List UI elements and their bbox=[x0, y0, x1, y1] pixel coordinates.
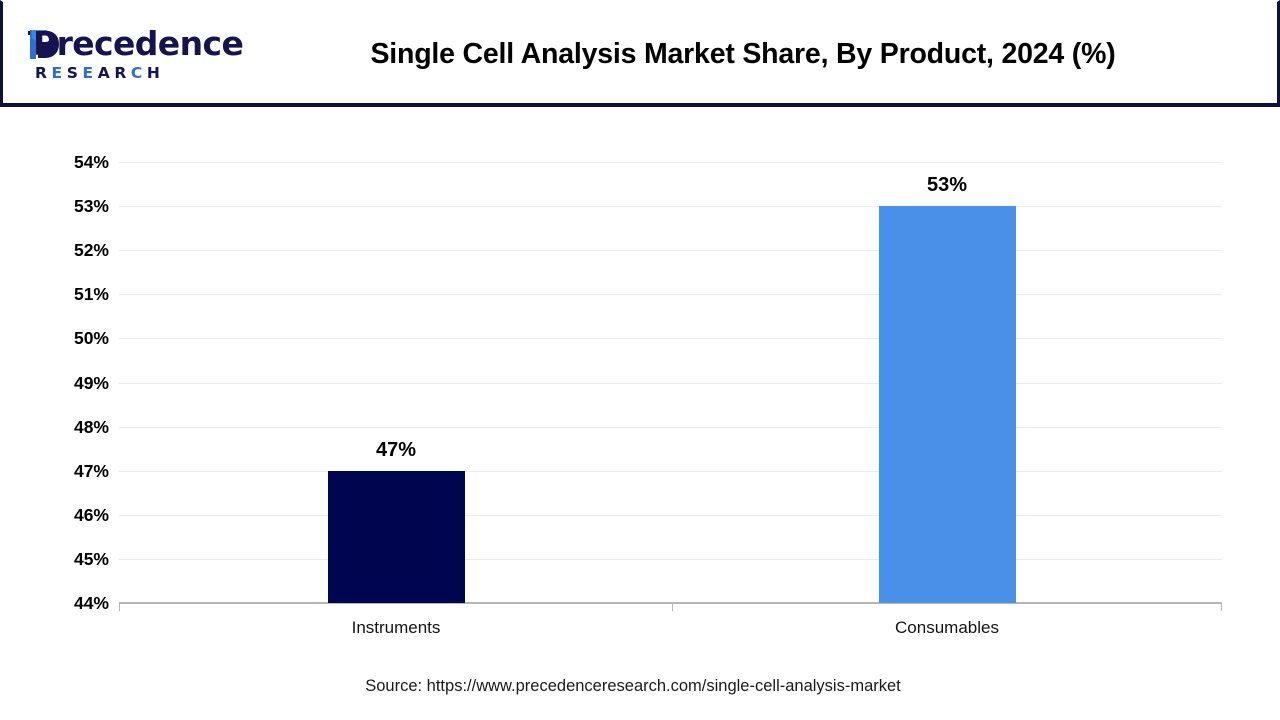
x-axis-tick bbox=[119, 604, 120, 611]
bar-value-label: 47% bbox=[316, 439, 476, 462]
x-axis-tick bbox=[1221, 604, 1222, 611]
bar-series: 47%53% bbox=[0, 0, 1280, 603]
bar-value-label: 53% bbox=[867, 174, 1027, 197]
x-axis-category-label: Consumables bbox=[807, 618, 1087, 638]
x-axis-category-label: Instruments bbox=[256, 618, 536, 638]
bar-consumables[interactable] bbox=[879, 206, 1016, 603]
source-caption: Source: https://www.precedenceresearch.c… bbox=[0, 677, 1266, 696]
x-axis-tick bbox=[672, 604, 673, 611]
bar-instruments[interactable] bbox=[328, 471, 465, 603]
chart-page: Precedence RESEARCH Single Cell Analysis… bbox=[0, 0, 1280, 720]
